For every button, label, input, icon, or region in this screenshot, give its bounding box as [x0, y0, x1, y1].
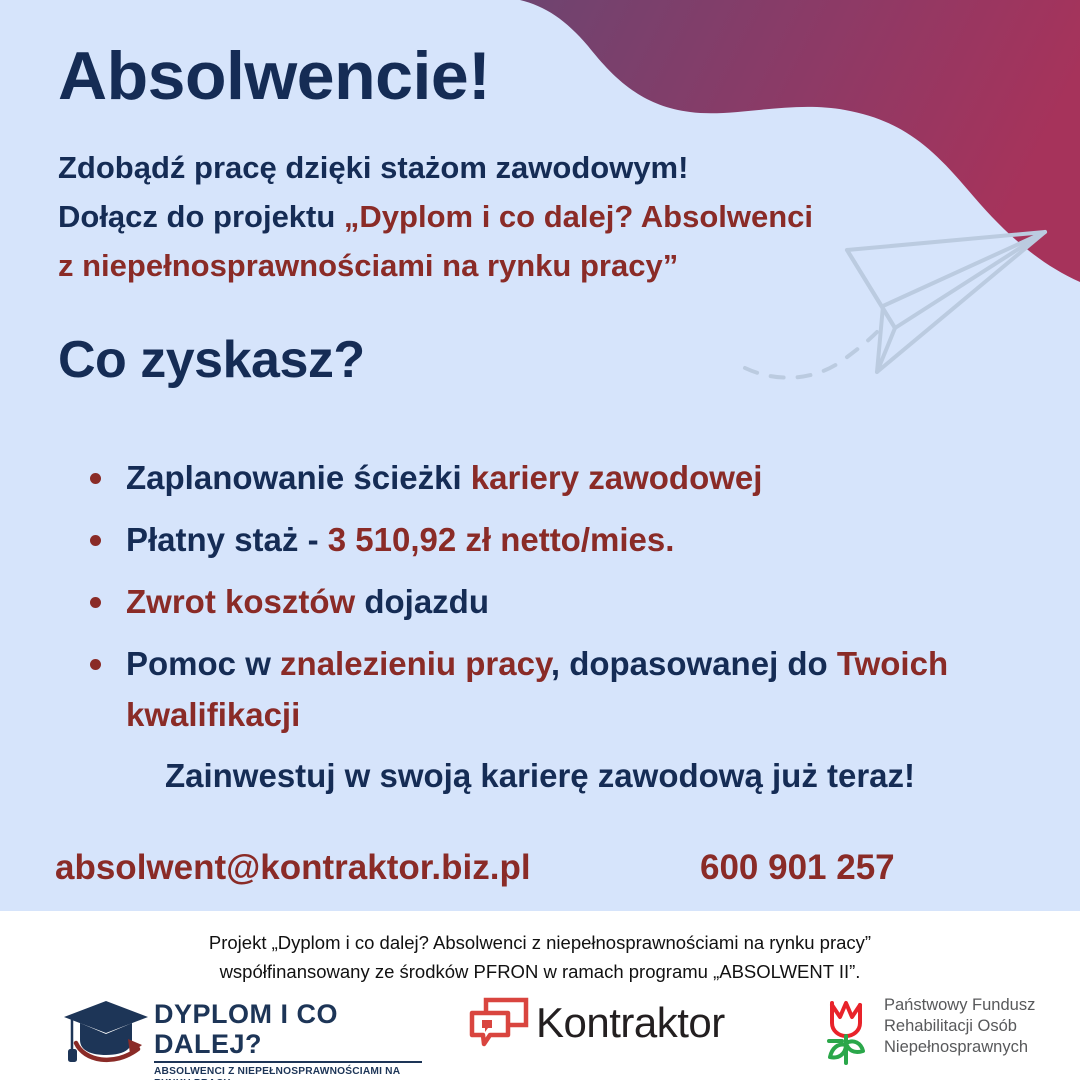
bullet-text-navy: dojazdu: [355, 583, 489, 620]
bullet-text-navy-2: , dopasowanej do: [551, 645, 837, 682]
page-title: Absolwencie!: [58, 42, 490, 110]
logo-pfron-text: Państwowy Fundusz Rehabilitacji Osób Nie…: [884, 995, 1035, 1058]
logo-dyplom-text: DYPLOM I CO DALEJ? ABSOLWENCI Z NIEPEŁNO…: [154, 999, 422, 1080]
graduation-cap-icon: [62, 995, 154, 1065]
call-to-action: Zainwestuj w swoją karierę zawodową już …: [0, 757, 1080, 795]
logo-pfron: Państwowy Fundusz Rehabilitacji Osób Nie…: [818, 993, 1038, 1069]
section-heading: Co zyskasz?: [58, 334, 365, 386]
footer-note: Projekt „Dyplom i co dalej? Absolwenci z…: [0, 928, 1080, 986]
logo-dyplom-title: DYPLOM I CO DALEJ?: [154, 999, 422, 1059]
poster-root: Absolwencie! Zdobądź pracę dzięki stażom…: [0, 0, 1080, 1080]
footer: Projekt „Dyplom i co dalej? Absolwenci z…: [0, 911, 1080, 1080]
logo-pfron-line-3: Niepełnosprawnych: [884, 1037, 1035, 1058]
footer-note-line-2: współfinansowany ze środków PFRON w rama…: [0, 957, 1080, 986]
list-item: Pomoc w znalezieniu pracy, dopasowanej d…: [84, 638, 1014, 740]
benefits-list: Zaplanowanie ścieżki kariery zawodowej P…: [84, 452, 1014, 751]
bullet-text-accent: kariery zawodowej: [471, 459, 763, 496]
logo-pfron-line-1: Państwowy Fundusz: [884, 995, 1035, 1016]
logo-kontraktor-name: Kontraktor: [536, 999, 725, 1047]
bullet-text-navy: Pomoc w: [126, 645, 280, 682]
contact-email[interactable]: absolwent@kontraktor.biz.pl: [55, 848, 531, 888]
speech-bubbles-icon: [468, 997, 530, 1049]
bullet-text-accent: 3 510,92 zł netto/mies.: [328, 521, 675, 558]
hero-subline-2-navy: Dołącz do projektu: [58, 199, 344, 234]
hero-subline-3: z niepełnosprawnościami na rynku pracy”: [58, 241, 1018, 290]
bullet-text-navy: Zaplanowanie ścieżki: [126, 459, 471, 496]
bullet-text-navy: Płatny staż -: [126, 521, 328, 558]
list-item: Zwrot kosztów dojazdu: [84, 576, 1014, 627]
logo-dyplom-subtitle: ABSOLWENCI Z NIEPEŁNOSPRAWNOŚCIAMI NA RY…: [154, 1066, 422, 1080]
hero-subtext: Zdobądź pracę dzięki stażom zawodowym! D…: [58, 143, 1018, 290]
contact-row: absolwent@kontraktor.biz.pl 600 901 257: [0, 848, 1080, 900]
list-item: Płatny staż - 3 510,92 zł netto/mies.: [84, 514, 1014, 565]
logo-row: DYPLOM I CO DALEJ? ABSOLWENCI Z NIEPEŁNO…: [0, 993, 1080, 1075]
footer-note-line-1: Projekt „Dyplom i co dalej? Absolwenci z…: [0, 928, 1080, 957]
logo-dyplom-divider: [154, 1061, 422, 1063]
bullet-text-accent: znalezieniu pracy: [280, 645, 551, 682]
hero-subline-2-accent: „Dyplom i co dalej? Absolwenci: [344, 199, 813, 234]
hero-subline-2: Dołącz do projektu „Dyplom i co dalej? A…: [58, 192, 1018, 241]
bullet-text-accent: Zwrot kosztów: [126, 583, 355, 620]
contact-phone[interactable]: 600 901 257: [700, 848, 895, 888]
tulip-icon: [818, 993, 878, 1067]
list-item: Zaplanowanie ścieżki kariery zawodowej: [84, 452, 1014, 503]
logo-dyplom-i-co-dalej: DYPLOM I CO DALEJ? ABSOLWENCI Z NIEPEŁNO…: [62, 995, 422, 1067]
logo-kontraktor: Kontraktor: [468, 997, 748, 1063]
logo-pfron-line-2: Rehabilitacji Osób: [884, 1016, 1035, 1037]
hero-subline-1: Zdobądź pracę dzięki stażom zawodowym!: [58, 143, 1018, 192]
